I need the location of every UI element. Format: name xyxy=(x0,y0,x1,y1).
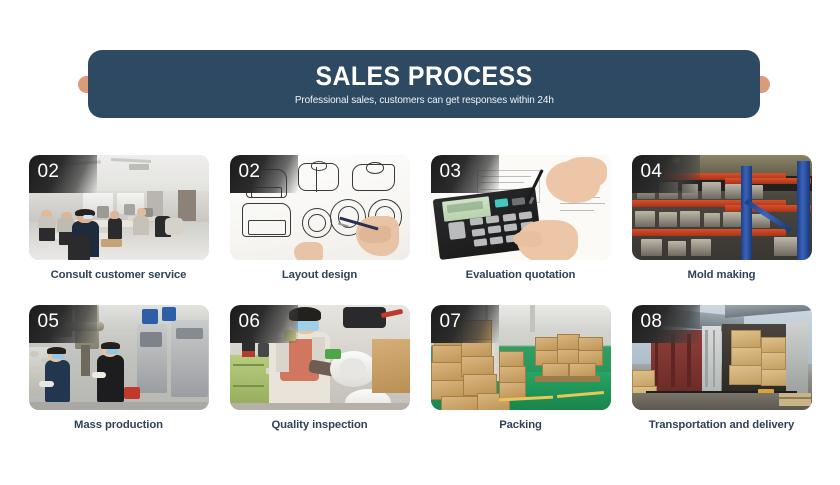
step-label: Mold making xyxy=(688,269,756,281)
step-thumbnail[interactable]: 02 xyxy=(230,155,410,260)
page-subtitle: Professional sales, customers can get re… xyxy=(295,94,554,106)
process-step-card[interactable]: 02 Consult customer service xyxy=(29,155,209,305)
step-label: Packing xyxy=(499,419,542,431)
step-number-badge: 03 xyxy=(431,155,499,193)
step-label: Transportation and delivery xyxy=(649,419,794,431)
step-label: Evaluation quotation xyxy=(466,269,576,281)
process-step-card[interactable]: 03 Evaluation quotation xyxy=(431,155,611,305)
step-thumbnail[interactable]: 08 xyxy=(632,305,812,410)
step-number-badge: 02 xyxy=(29,155,97,193)
step-thumbnail[interactable]: 05 xyxy=(29,305,209,410)
step-label: Mass production xyxy=(74,419,163,431)
step-label: Layout design xyxy=(282,269,357,281)
process-steps-grid: 02 Consult customer service xyxy=(0,155,840,455)
page-title: SALES PROCESS xyxy=(315,62,532,90)
step-number-badge: 04 xyxy=(632,155,700,193)
step-thumbnail[interactable]: 02 xyxy=(29,155,209,260)
process-step-card[interactable]: 08 Transportation and delivery xyxy=(632,305,812,455)
process-step-card[interactable]: 06 Quality inspection xyxy=(230,305,410,455)
process-row-top: 02 Consult customer service xyxy=(0,155,840,305)
step-thumbnail[interactable]: 07 xyxy=(431,305,611,410)
process-step-card[interactable]: 02 Layout design xyxy=(230,155,410,305)
process-row-bottom: 05 Mass production xyxy=(0,305,840,455)
process-step-card[interactable]: 05 Mass production xyxy=(29,305,209,455)
step-number-badge: 02 xyxy=(230,155,298,193)
process-step-card[interactable]: 04 Mold making xyxy=(632,155,812,305)
sales-process-page: SALES PROCESS Professional sales, custom… xyxy=(0,0,840,485)
step-thumbnail[interactable]: 04 xyxy=(632,155,812,260)
step-thumbnail[interactable]: 06 xyxy=(230,305,410,410)
step-number-badge: 06 xyxy=(230,305,298,343)
step-label: Consult customer service xyxy=(51,269,187,281)
step-thumbnail[interactable]: 03 xyxy=(431,155,611,260)
step-number-badge: 08 xyxy=(632,305,700,343)
process-step-card[interactable]: 07 Packing xyxy=(431,305,611,455)
step-number-badge: 05 xyxy=(29,305,97,343)
banner-body: SALES PROCESS Professional sales, custom… xyxy=(88,50,760,118)
header-banner: SALES PROCESS Professional sales, custom… xyxy=(78,50,770,118)
step-label: Quality inspection xyxy=(271,419,367,431)
step-number-badge: 07 xyxy=(431,305,499,343)
